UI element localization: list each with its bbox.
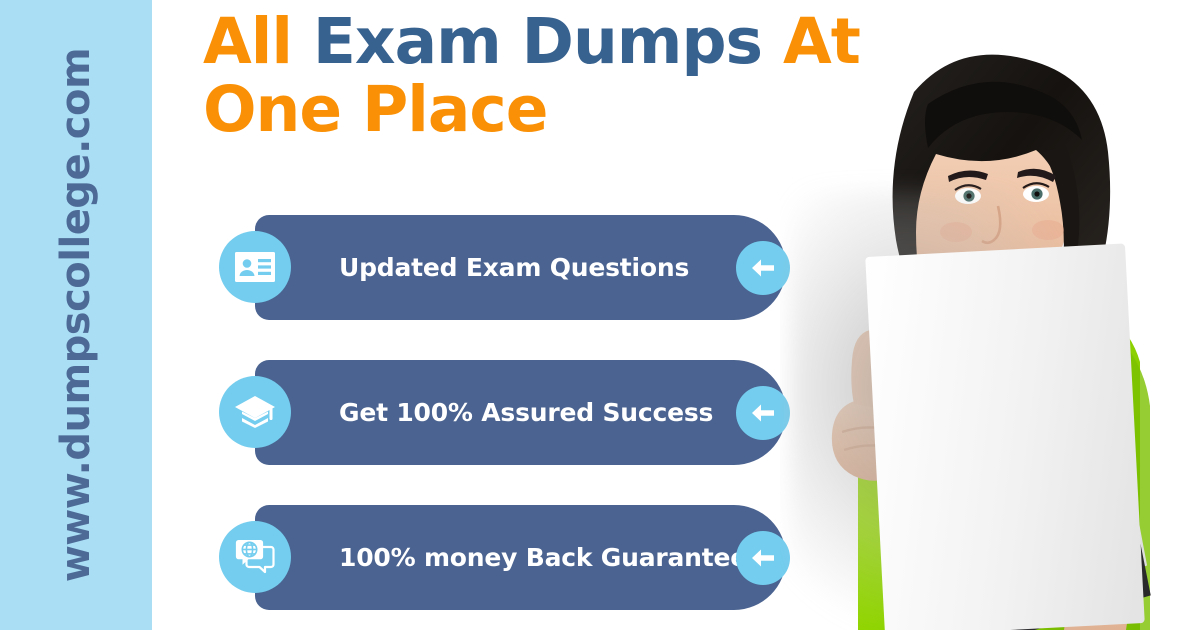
website-url: www.dumpscollege.com bbox=[53, 48, 99, 582]
graduation-cap-icon bbox=[219, 376, 291, 448]
feature-label: Updated Exam Questions bbox=[339, 215, 689, 320]
id-card-icon bbox=[219, 231, 291, 303]
promo-banner: www.dumpscollege.com All Exam Dumps At O… bbox=[0, 0, 1200, 630]
headline-part-2: Exam Dumps bbox=[313, 5, 762, 78]
globe-chat-icon bbox=[219, 521, 291, 593]
feature-label: 100% money Back Guarantee bbox=[339, 505, 747, 610]
feature-label: Get 100% Assured Success bbox=[339, 360, 713, 465]
photo-backdrop-board bbox=[865, 243, 1145, 630]
feature-item-money-back-guarantee[interactable]: 100% money Back Guarantee bbox=[219, 505, 819, 610]
feature-item-updated-exam-questions[interactable]: Updated Exam Questions bbox=[219, 215, 819, 320]
headline-part-1: All bbox=[203, 5, 313, 78]
sidebar-url-bar: www.dumpscollege.com bbox=[0, 0, 152, 630]
feature-list: Updated Exam Questions Get 100 bbox=[219, 215, 819, 610]
feature-item-assured-success[interactable]: Get 100% Assured Success bbox=[219, 360, 819, 465]
student-photo bbox=[780, 0, 1200, 630]
